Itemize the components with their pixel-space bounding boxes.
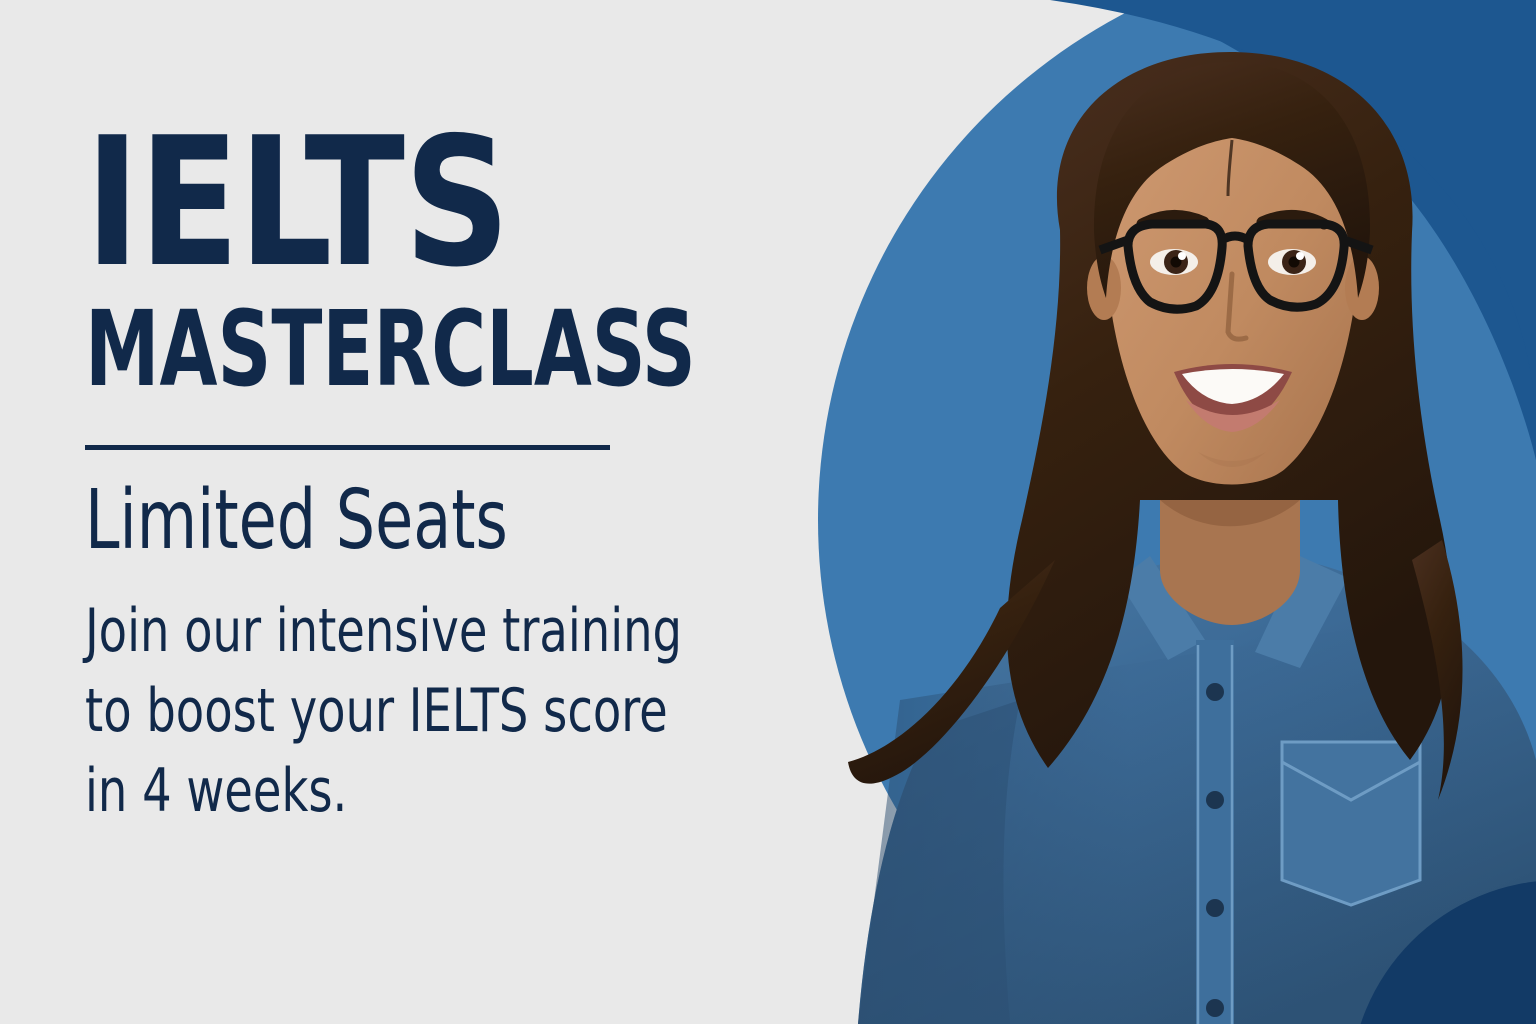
body-copy-line-3: in 4 weeks. (85, 752, 842, 832)
text-block: IELTS MASTERCLASS Limited Seats Join our… (85, 118, 875, 831)
denim-chest-pocket (1282, 742, 1420, 905)
body-copy-line-1: Join our intensive training (85, 592, 842, 672)
eye-highlight-right (1296, 252, 1304, 260)
page-title-masterclass: MASTERCLASS (85, 297, 717, 401)
shirt-button (1206, 999, 1224, 1017)
shirt-button (1206, 899, 1224, 917)
tagline-limited-seats: Limited Seats (85, 480, 749, 562)
shirt-button (1206, 683, 1224, 701)
eye-highlight-left (1178, 252, 1186, 260)
body-copy: Join our intensive training to boost you… (85, 592, 842, 831)
divider-rule (85, 445, 610, 450)
poster-canvas: IELTS MASTERCLASS Limited Seats Join our… (0, 0, 1536, 1024)
body-copy-line-2: to boost your IELTS score (85, 672, 842, 752)
page-title-ielts: IELTS (85, 118, 812, 287)
glasses-bridge (1222, 236, 1248, 240)
shirt-button (1206, 791, 1224, 809)
